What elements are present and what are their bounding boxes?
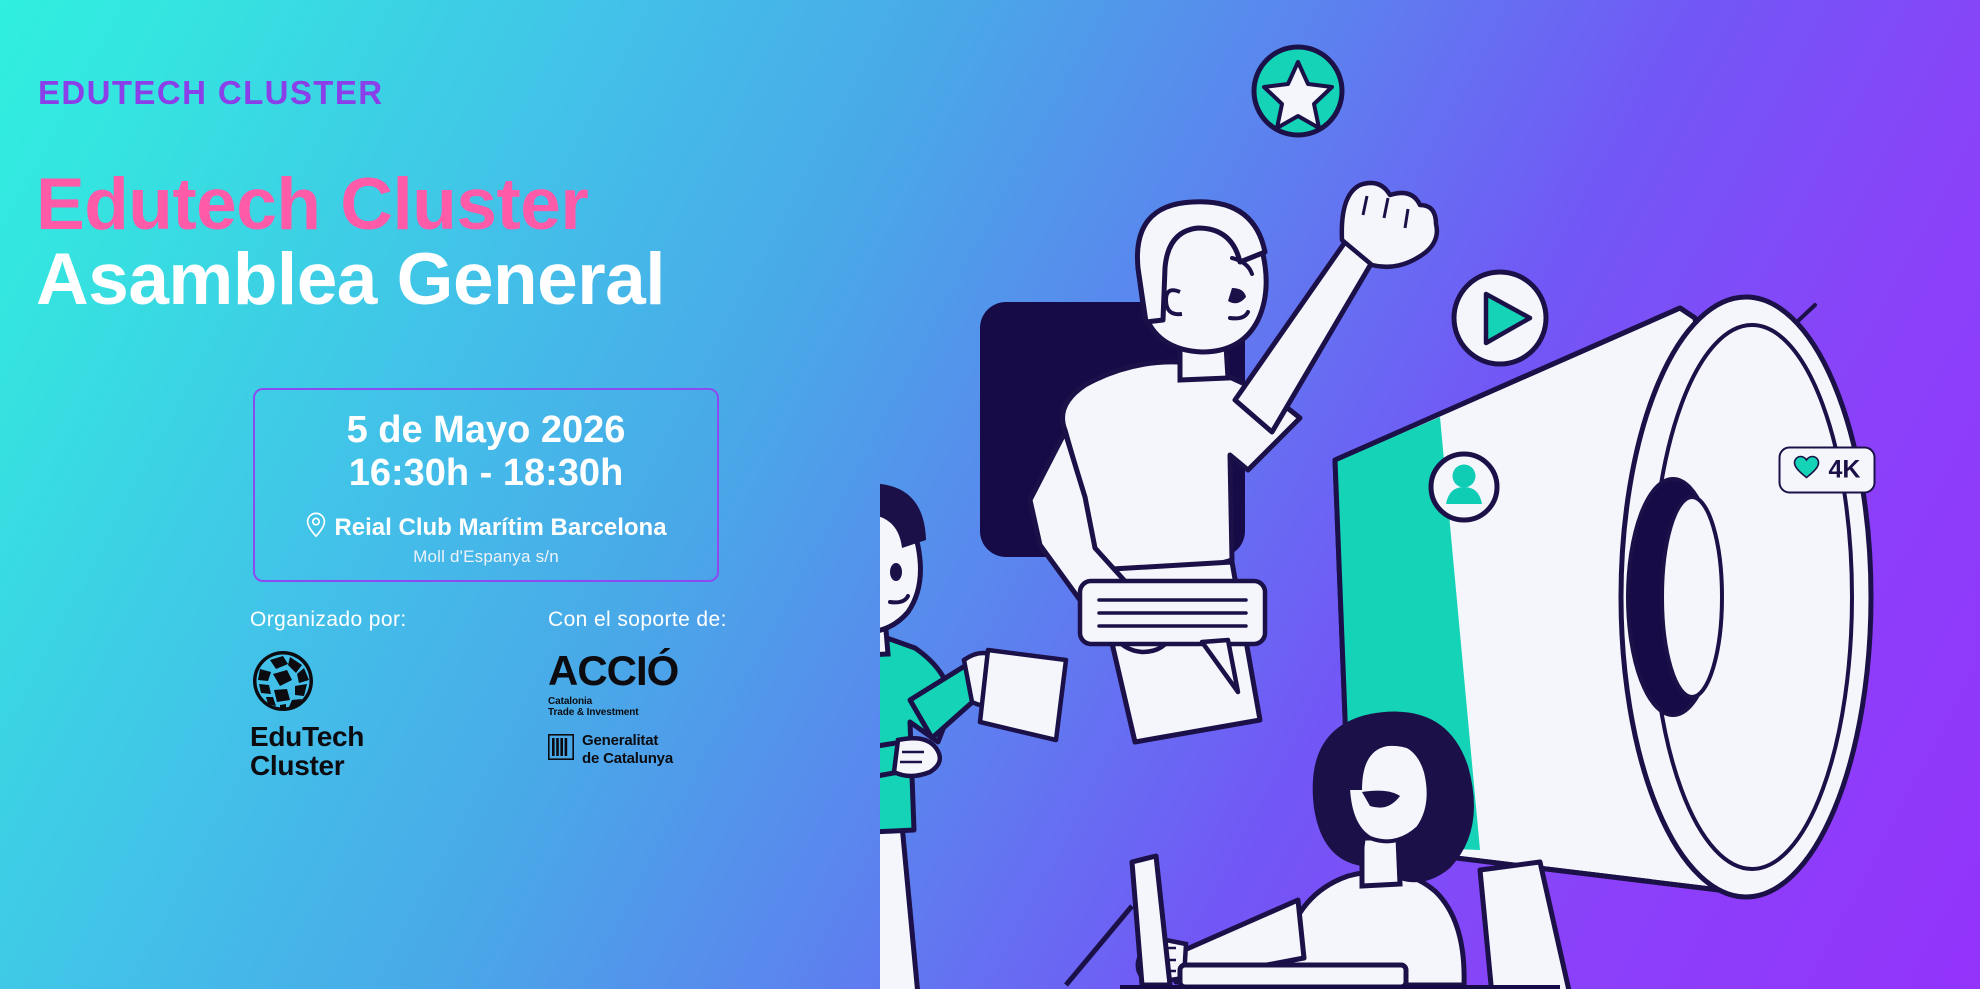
accio-tagline-line-1: Catalonia [548, 696, 758, 707]
edutech-logo-wordmark: EduTech Cluster [250, 723, 460, 780]
likes-badge: 4K [1779, 447, 1876, 494]
organizer-caption: Organizado por: [250, 608, 460, 632]
event-time: 16:30h - 18:30h [349, 453, 624, 494]
brand-eyebrow: EDUTECH CLUSTER [38, 74, 384, 112]
accio-tagline-line-2: Trade & Investment [548, 707, 758, 718]
generalitat-line-1: Generalitat [582, 732, 673, 749]
play-icon [1454, 272, 1546, 364]
venue-name: Reial Club Marítim Barcelona [334, 514, 666, 542]
accio-logo-tagline: Catalonia Trade & Investment [548, 696, 758, 718]
venue-row: Reial Club Marítim Barcelona [305, 512, 666, 543]
generalitat-logo: Generalitat de Catalunya [548, 732, 758, 767]
headline-line-2: Asamblea General [36, 238, 665, 321]
generalitat-shield-icon [548, 734, 574, 765]
heart-icon [1794, 456, 1820, 485]
user-icon [1431, 454, 1497, 520]
person-reading-icon [880, 483, 1066, 989]
supporter-caption: Con el soporte de: [548, 608, 758, 632]
event-date: 5 de Mayo 2026 [347, 410, 626, 451]
accio-logo-wordmark: ACCIÓ [548, 650, 758, 692]
sponsors-section: Organizado por: [250, 608, 770, 780]
illustration-area [880, 0, 1980, 989]
likes-count: 4K [1829, 458, 1861, 483]
illustration-svg [880, 0, 1980, 989]
generalitat-wordmark: Generalitat de Catalunya [582, 732, 673, 767]
content-column: EDUTECH CLUSTER Edutech Cluster Asamblea… [0, 0, 900, 989]
event-banner: 4K EDUTECH CLUSTER Edutech Cluster Asamb… [0, 0, 1980, 989]
venue-address: Moll d'Espanya s/n [413, 547, 559, 567]
headline-line-1: Edutech Cluster [36, 163, 588, 246]
edutech-logo-line-2: Cluster [250, 752, 460, 781]
star-icon [1254, 47, 1342, 135]
edutech-cluster-logo-icon [252, 650, 460, 717]
generalitat-line-2: de Catalunya [582, 750, 673, 767]
location-pin-icon [305, 512, 327, 543]
supporter-block: Con el soporte de: ACCIÓ Catalonia Trade… [548, 608, 758, 780]
event-details-box: 5 de Mayo 2026 16:30h - 18:30h Reial Clu… [253, 388, 719, 582]
organizer-block: Organizado por: [250, 608, 460, 780]
edutech-logo-line-1: EduTech [250, 723, 460, 752]
